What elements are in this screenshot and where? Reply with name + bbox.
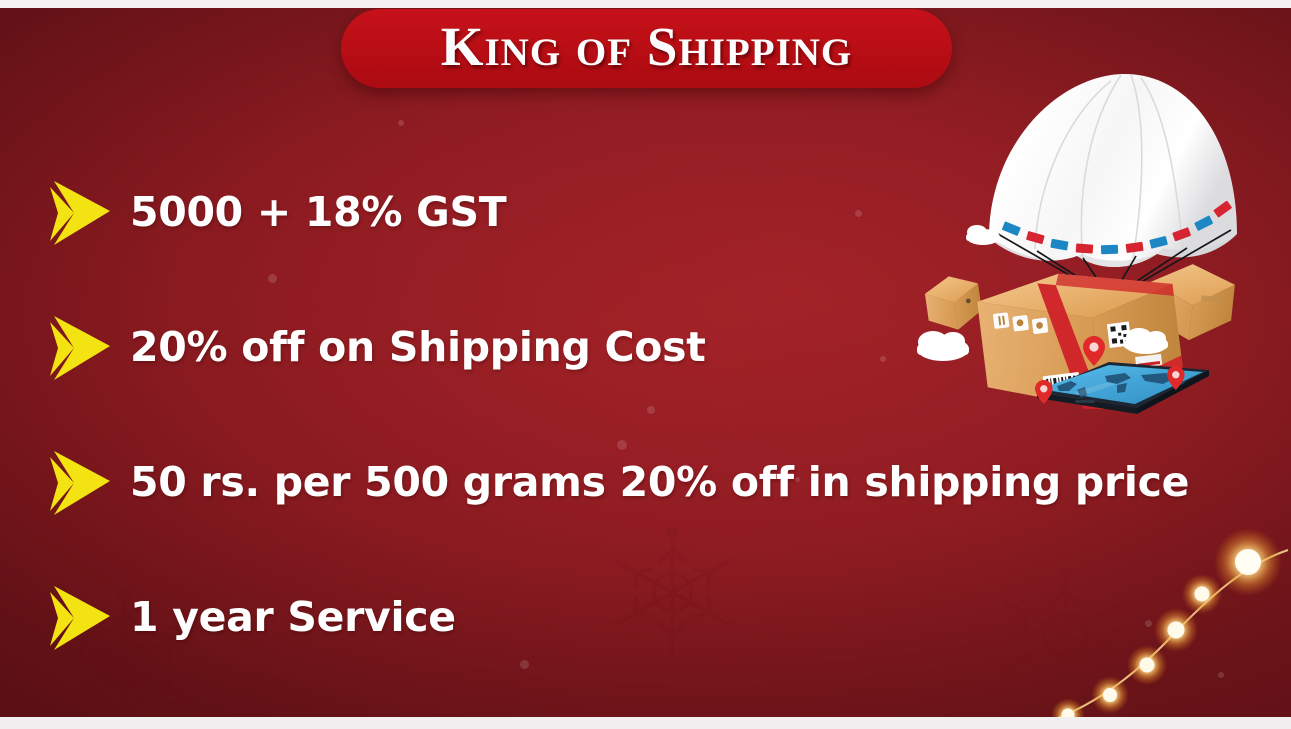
- chevron-arrow-icon: [44, 447, 116, 519]
- offer-label: 50 rs. per 500 grams 20% off in shipping…: [130, 460, 1189, 505]
- bottom-edge-strip: [0, 717, 1291, 729]
- page-title: King of Shipping: [441, 19, 853, 78]
- offer-label: 20% off on Shipping Cost: [130, 325, 706, 370]
- chevron-arrow-icon: [44, 312, 116, 384]
- list-item: 20% off on Shipping Cost: [44, 280, 1224, 415]
- list-item: 5000 + 18% GST: [44, 145, 1224, 280]
- list-item: 50 rs. per 500 grams 20% off in shipping…: [44, 415, 1224, 550]
- offer-label: 5000 + 18% GST: [130, 190, 506, 235]
- title-plaque: King of Shipping: [341, 9, 952, 88]
- top-edge-strip: [0, 0, 1291, 8]
- offers-list: 5000 + 18% GST 20% off on Shipping Cost …: [44, 145, 1224, 685]
- chevron-arrow-icon: [44, 582, 116, 654]
- chevron-arrow-icon: [44, 177, 116, 249]
- list-item: 1 year Service: [44, 550, 1224, 685]
- bokeh-dot: [398, 120, 404, 126]
- promotional-banner: King of Shipping: [0, 0, 1291, 729]
- offer-label: 1 year Service: [130, 595, 456, 640]
